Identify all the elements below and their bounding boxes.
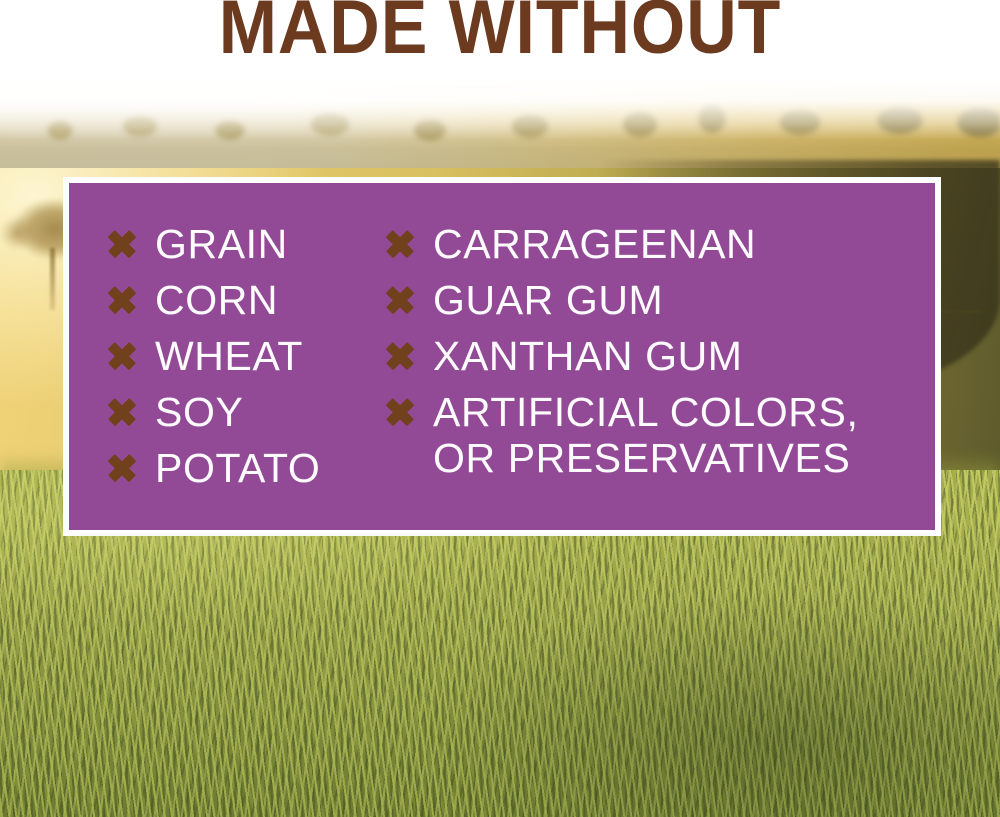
x-mark-icon <box>107 285 137 315</box>
x-mark-icon <box>385 285 415 315</box>
list-item: WHEAT <box>107 333 407 389</box>
page-title: MADE WITHOUT <box>40 0 960 66</box>
list-item: POTATO <box>107 445 407 501</box>
panel-inner: GRAIN CORN WHEAT SOY <box>69 183 935 530</box>
list-item-label: SOY <box>155 389 243 435</box>
list-item-label: GRAIN <box>155 221 288 267</box>
list-item-label: POTATO <box>155 445 320 491</box>
list-item-label: CARRAGEENAN <box>433 221 756 267</box>
exclusion-lists: GRAIN CORN WHEAT SOY <box>69 183 935 530</box>
list-item: ARTIFICIAL COLORS, OR PRESERVATIVES <box>385 389 905 481</box>
x-mark-icon <box>107 229 137 259</box>
list-item: XANTHAN GUM <box>385 333 905 389</box>
x-mark-icon <box>385 229 415 259</box>
list-item: CORN <box>107 277 407 333</box>
list-item-label: CORN <box>155 277 278 323</box>
x-mark-icon <box>385 397 415 427</box>
promo-image: MADE WITHOUT GRAIN CORN WHEAT <box>0 0 1000 817</box>
list-item: SOY <box>107 389 407 445</box>
x-mark-icon <box>385 341 415 371</box>
right-exclusion-column: CARRAGEENAN GUAR GUM XANTHAN GUM ARTIFIC… <box>385 221 905 481</box>
list-item-label: ARTIFICIAL COLORS, OR PRESERVATIVES <box>433 389 858 481</box>
list-item-label: WHEAT <box>155 333 303 379</box>
x-mark-icon <box>107 397 137 427</box>
list-item-label: XANTHAN GUM <box>433 333 743 379</box>
list-item-label: GUAR GUM <box>433 277 663 323</box>
fence-rail-icon <box>938 310 982 313</box>
silhouette-shrub-icon <box>0 216 34 250</box>
silhouette-tree-trunk-icon <box>50 248 55 310</box>
fence-post-icon <box>952 300 956 334</box>
list-item: GRAIN <box>107 221 407 277</box>
list-item: CARRAGEENAN <box>385 221 905 277</box>
made-without-panel: GRAIN CORN WHEAT SOY <box>63 177 941 536</box>
x-mark-icon <box>107 341 137 371</box>
left-exclusion-column: GRAIN CORN WHEAT SOY <box>107 221 407 501</box>
x-mark-icon <box>107 453 137 483</box>
list-item: GUAR GUM <box>385 277 905 333</box>
